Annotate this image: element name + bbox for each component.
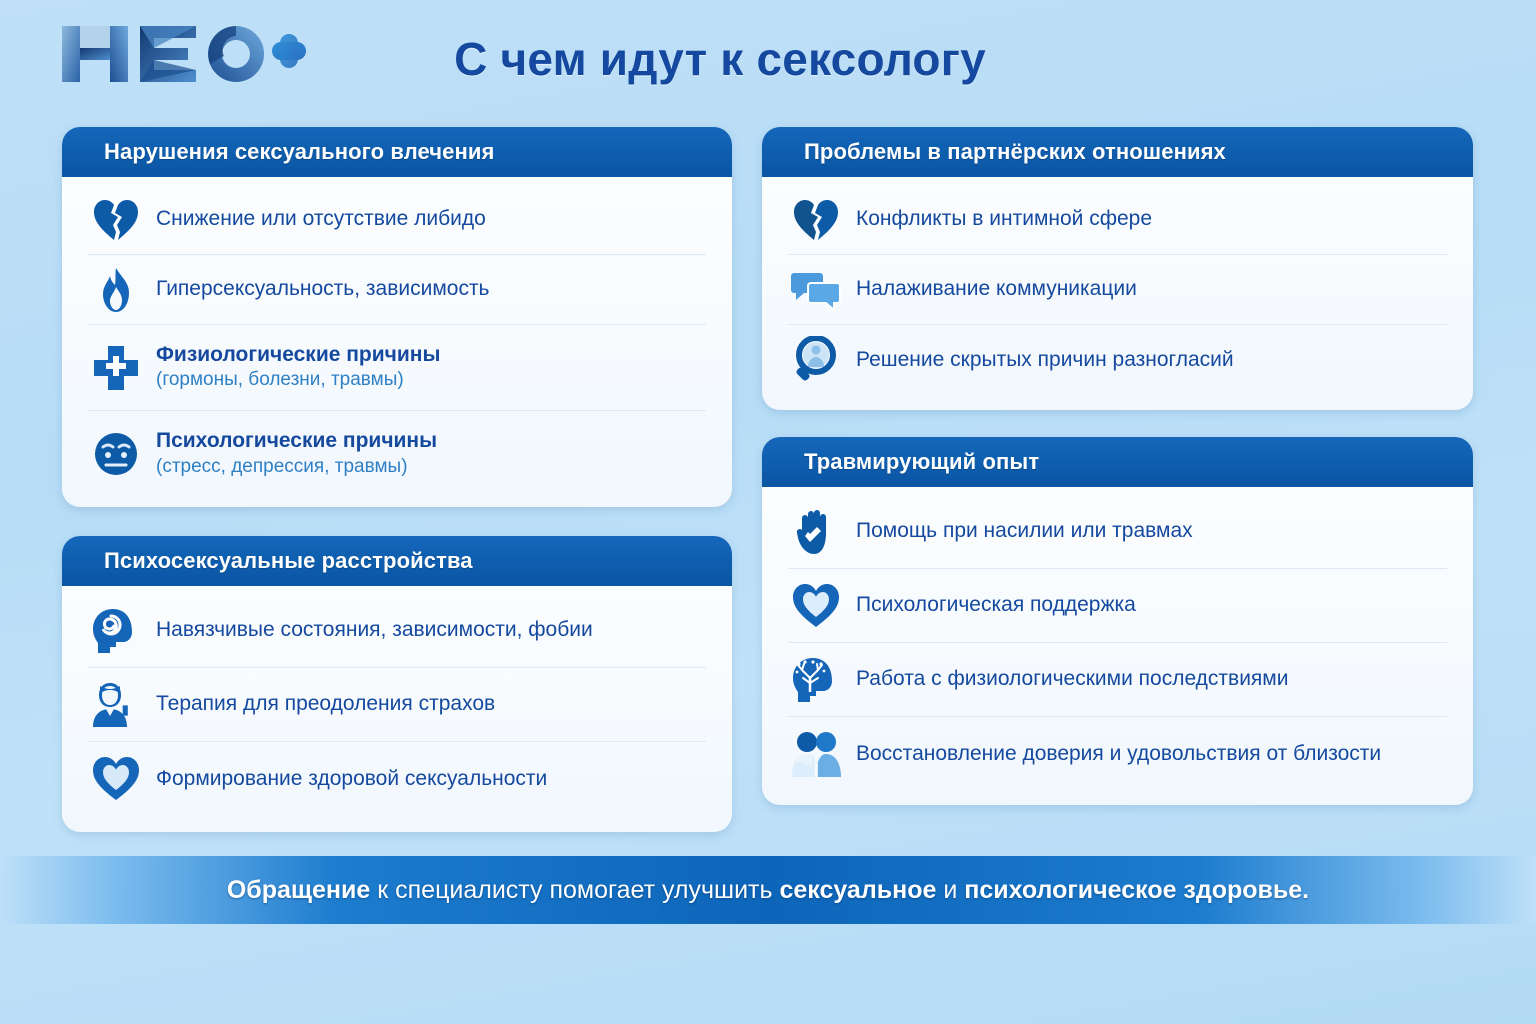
flame-icon [88,262,144,318]
list-item[interactable]: Формирование здоровой сексуальности [88,742,706,816]
hand-check-icon [788,504,844,560]
list-item-label: Конфликты в интимной сфере [856,207,1152,232]
list-item[interactable]: Помощь при насилии или травмах [788,495,1447,569]
list-item-label: Гиперсексуальность, зависимость [156,277,490,302]
card-body: Помощь при насилии или травмах Психологи… [762,487,1473,805]
broken-heart-icon [788,192,844,248]
list-item-label: Налаживание коммуникации [856,277,1137,302]
list-item[interactable]: Конфликты в интимной сфере [788,185,1447,255]
list-item-sublabel: (стресс, депрессия, травмы) [156,456,437,479]
list-item-text: Физиологические причины (гормоны, болезн… [156,343,440,393]
list-item-label: Физиологические причины [156,343,440,368]
card-body: Конфликты в интимной сфере Налаживание к… [762,177,1473,409]
list-item-text: Конфликты в интимной сфере [856,207,1152,232]
card-header-title: Нарушения сексуального влечения [62,127,732,177]
list-item-sublabel: (гормоны, болезни, травмы) [156,369,440,392]
card-body: Навязчивые состояния, зависимости, фобии… [62,586,732,830]
list-item-text: Налаживание коммуникации [856,277,1137,302]
heart-inner-icon [88,751,144,807]
person-plus-icon [88,677,144,733]
list-item-text: Решение скрытых причин разногласий [856,348,1234,373]
speech-bubbles-icon [788,262,844,318]
list-item-label: Терапия для преодоления страхов [156,692,495,717]
list-item[interactable]: Работа с физиологическими последствиями [788,643,1447,717]
card-partner-relationship-problems: Проблемы в партнёрских отношениях Конфли… [762,127,1473,410]
list-item[interactable]: Снижение или отсутствие либидо [88,185,706,255]
card-header-title: Проблемы в партнёрских отношениях [762,127,1473,177]
list-item-label: Работа с физиологическими последствиями [856,667,1288,692]
list-item[interactable]: Психологические причины (стресс, депресс… [88,411,706,497]
card-header-title: Травмирующий опыт [762,437,1473,487]
footer-message: Обращение к специалисту помогает улучшит… [227,876,1309,905]
list-item-label: Решение скрытых причин разногласий [856,348,1234,373]
card-psychosexual-disorders: Психосексуальные расстройства Навязчивые… [62,536,732,832]
list-item-label: Психологические причины [156,429,437,454]
list-item[interactable]: Гиперсексуальность, зависимость [88,255,706,325]
list-item-text: Снижение или отсутствие либидо [156,207,486,232]
list-item[interactable]: Восстановление доверия и удовольствия от… [788,717,1447,791]
magnifier-person-icon [788,332,844,388]
head-tree-icon [788,652,844,708]
list-item[interactable]: Терапия для преодоления страхов [88,668,706,742]
list-item-text: Работа с физиологическими последствиями [856,667,1288,692]
list-item-text: Психологические причины (стресс, депресс… [156,429,437,479]
list-item-label: Помощь при насилии или травмах [856,519,1193,544]
page-title: С чем идут к сексологу [370,22,1070,96]
page-header: С чем идут к сексологу [0,0,1536,112]
broken-heart-icon [88,192,144,248]
list-item[interactable]: Психологическая поддержка [788,569,1447,643]
footer-regular-2: и [936,876,964,904]
card-header-title: Психосексуальные расстройства [62,536,732,586]
footer-bold-1: Обращение [227,876,370,904]
list-item-text: Навязчивые состояния, зависимости, фобии [156,618,593,643]
list-item-text: Терапия для преодоления страхов [156,692,495,717]
footer-banner: Обращение к специалисту помогает улучшит… [0,856,1536,924]
list-item-text: Гиперсексуальность, зависимость [156,277,490,302]
head-spiral-icon [88,603,144,659]
list-item-text: Помощь при насилии или травмах [856,519,1193,544]
card-disorders-of-desire: Нарушения сексуального влечения Снижение… [62,127,732,507]
card-traumatic-experience: Травмирующий опыт Помощь при насилии или… [762,437,1473,805]
list-item-label: Восстановление доверия и удовольствия от… [856,742,1381,767]
list-item[interactable]: Физиологические причины (гормоны, болезн… [88,325,706,411]
list-item[interactable]: Налаживание коммуникации [788,255,1447,325]
card-body: Снижение или отсутствие либидо Гиперсекс… [62,177,732,507]
brand-logo [58,18,308,90]
footer-regular-1: к специалисту помогает улучшить [370,876,779,904]
list-item-text: Формирование здоровой сексуальности [156,767,547,792]
list-item[interactable]: Навязчивые состояния, зависимости, фобии [88,594,706,668]
sad-face-icon [88,426,144,482]
list-item-label: Снижение или отсутствие либидо [156,207,486,232]
footer-bold-2: сексуальное [779,876,936,904]
medical-cross-icon [88,340,144,396]
list-item-label: Навязчивые состояния, зависимости, фобии [156,618,593,643]
list-item-label: Психологическая поддержка [856,593,1136,618]
footer-bold-3: психологическое здоровье. [964,876,1309,904]
list-item-text: Восстановление доверия и удовольствия от… [856,742,1381,767]
list-item-label: Формирование здоровой сексуальности [156,767,547,792]
list-item-text: Психологическая поддержка [856,593,1136,618]
heart-inner-icon [788,578,844,634]
couple-embrace-icon [788,726,844,782]
list-item[interactable]: Решение скрытых причин разногласий [788,325,1447,395]
